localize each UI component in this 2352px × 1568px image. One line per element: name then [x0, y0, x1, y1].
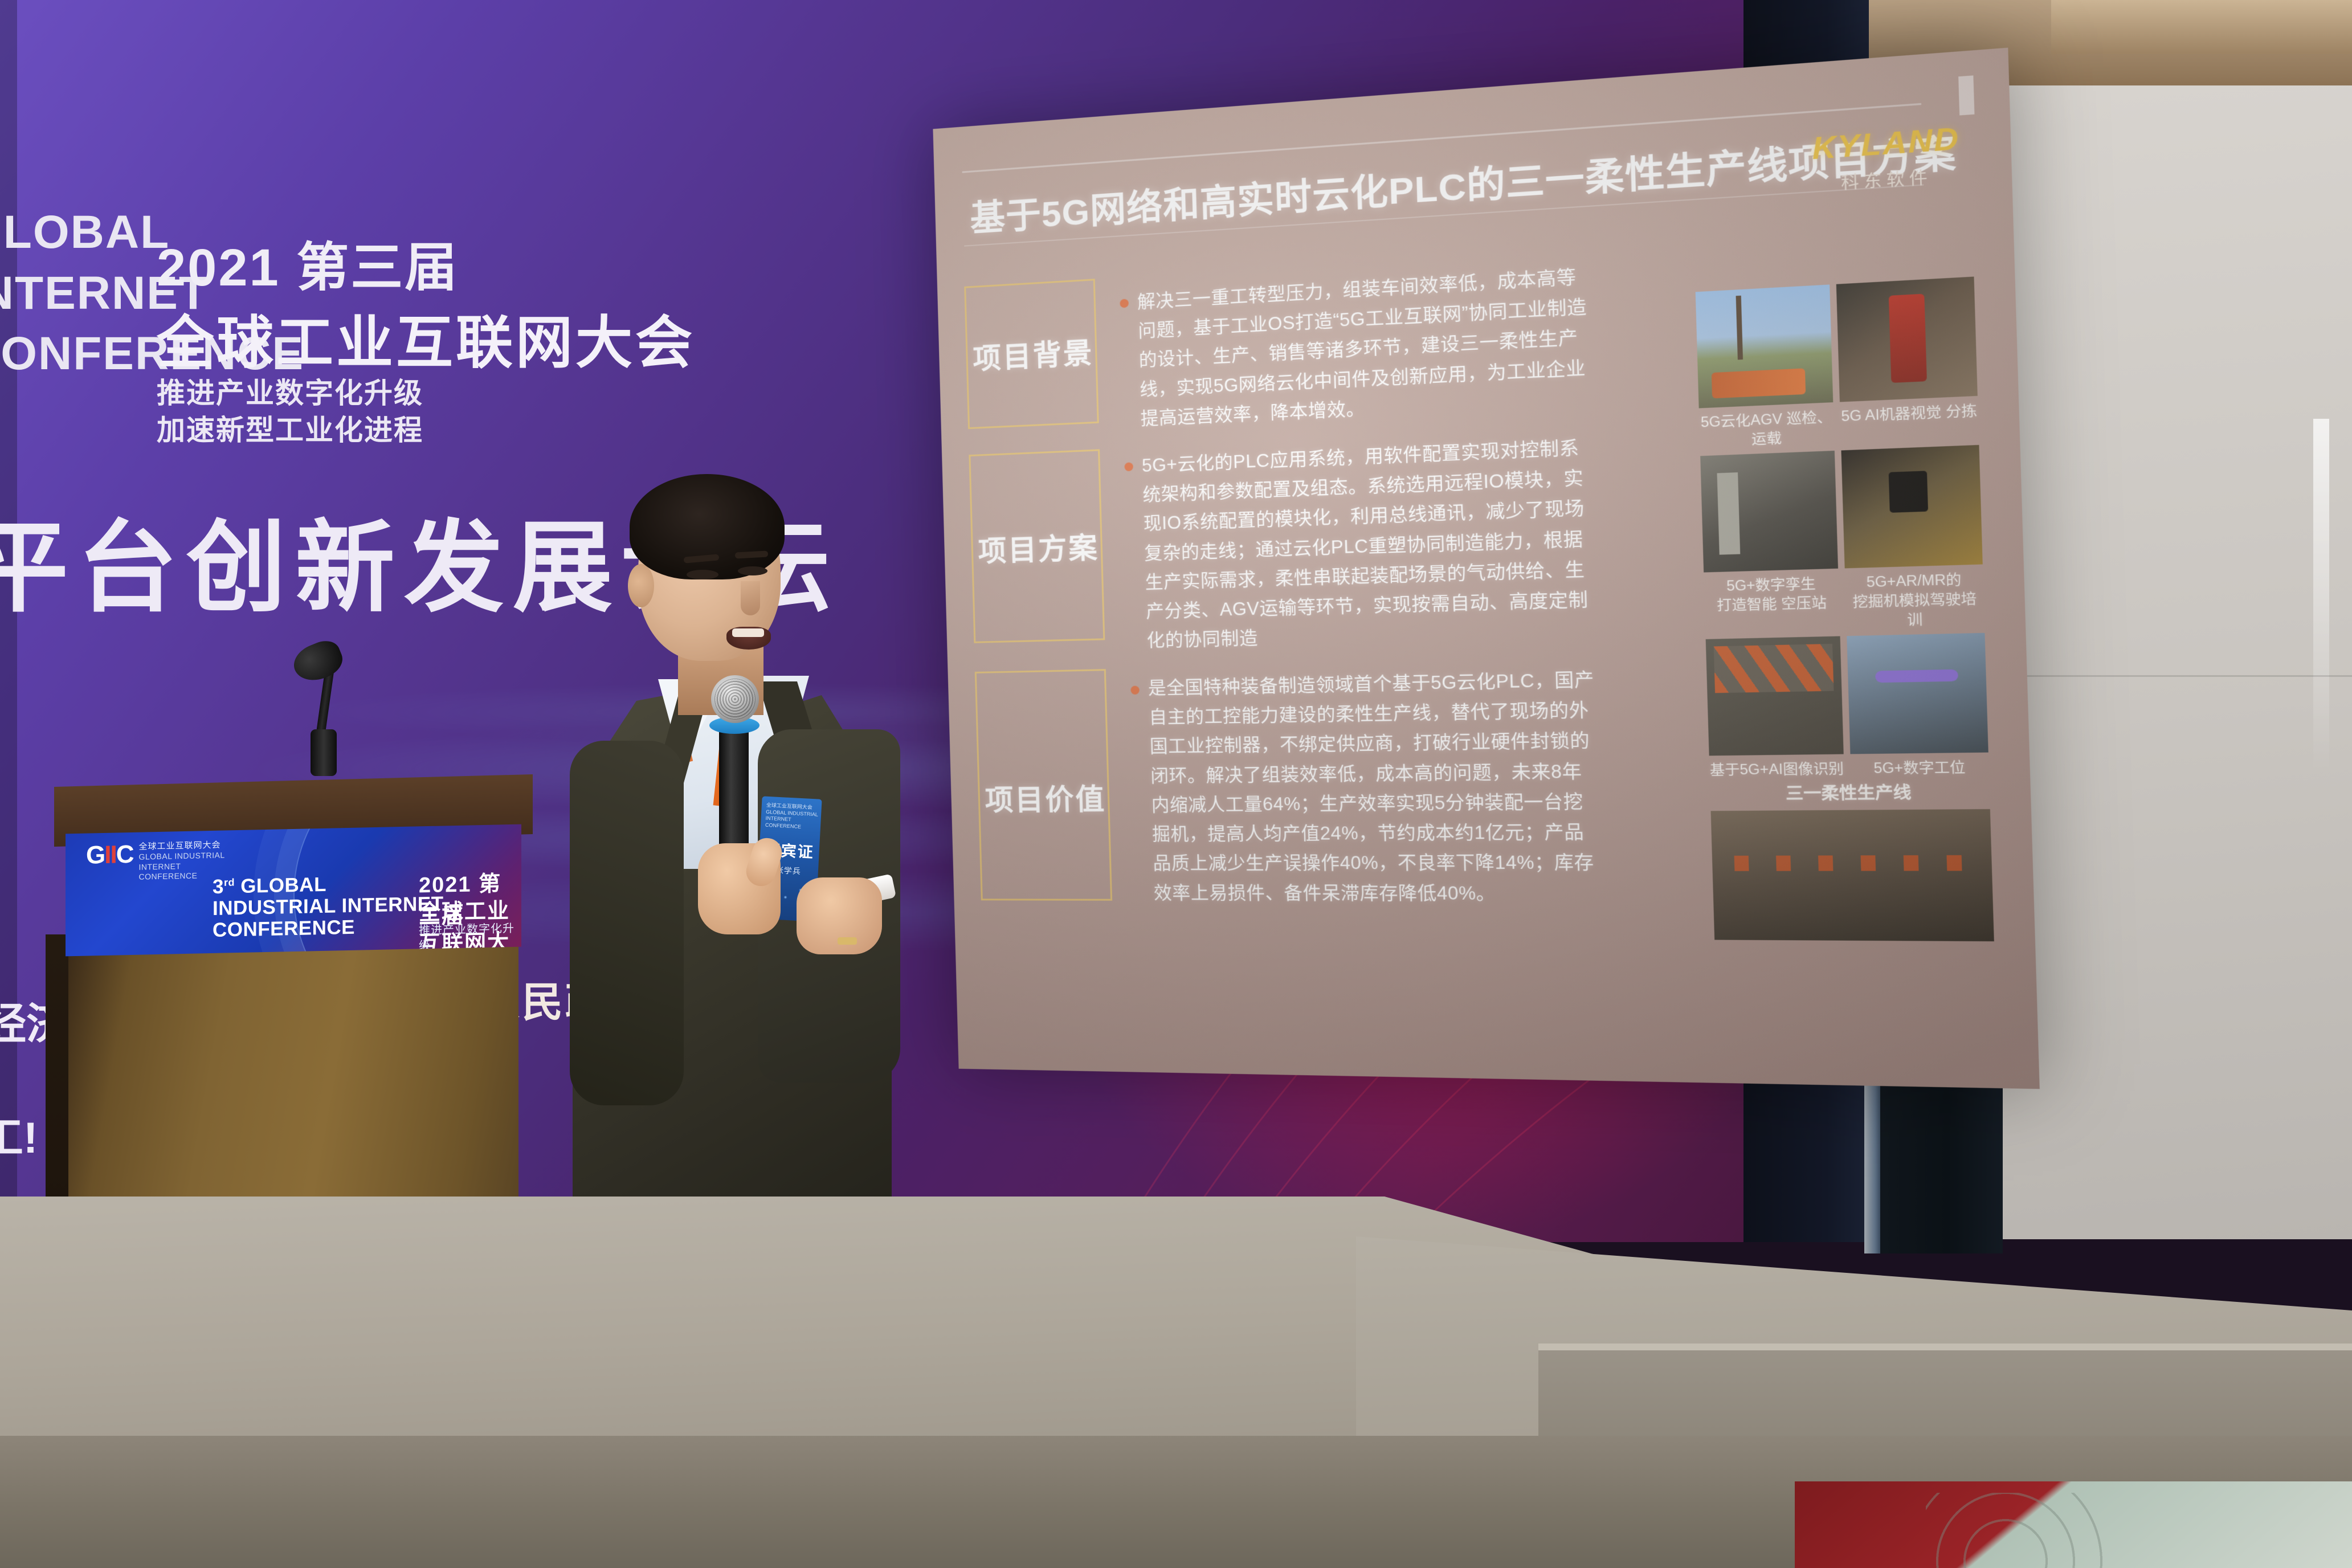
speaker-arm-left: [570, 741, 684, 1105]
thumbnail-image-ar-mr: [1841, 445, 1982, 569]
presentation-slide: 基于5G网络和高实时云化PLC的三一柔性生产线项目方案 KYLAND 科东软件 …: [933, 48, 2039, 1089]
speaker-teeth: [732, 628, 764, 637]
thumbnail-caption-row-3: 基于5G+AI图像识别 5G+数字工位: [1709, 753, 1989, 780]
room-right-wall: [1994, 54, 2352, 1239]
thumbnail-caption-2: 5G+数字孪生 打造智能 空压站: [1704, 569, 1840, 635]
carpet-motif: [1926, 1493, 2352, 1568]
section-label-2: 项目方案: [978, 525, 1100, 570]
podium-english-title: 3rd GLOBAL INDUSTRIAL INTERNET CONFERENC…: [213, 871, 444, 941]
section-label-3: 项目价值: [985, 776, 1106, 819]
backdrop-subtitle-1: 推进产业数字化升级: [157, 370, 423, 411]
thumbnail-caption-5: 5G+数字工位: [1850, 753, 1989, 778]
backdrop-en-line-1: INTERNET: [0, 263, 137, 324]
backdrop-en-line-0: GLOBAL: [0, 202, 137, 263]
thumbnail-caption-3: 5G+AR/MR的 挖掘机模拟驾驶培训: [1845, 565, 1984, 631]
section-label-1: 项目背景: [972, 330, 1094, 378]
microphone-icon: [711, 675, 759, 723]
backdrop-partial-text-2: 工!: [0, 1102, 38, 1165]
speaker-hair: [630, 474, 785, 579]
thumbnail-row-3: [1706, 633, 1988, 756]
thumbnail-image-ai-vision: [1836, 276, 1978, 402]
section-body-3: 是全国特种装备制造领域首个基于5G云化PLC，国产自主的工控能力建设的柔性生产线…: [1148, 665, 1604, 909]
thumbnail-image-production-line: [1711, 809, 1994, 941]
thumbnail-caption-0: 5G云化AGV 巡检、运载: [1699, 402, 1835, 451]
slide-corner-chip: [1958, 75, 1974, 115]
backdrop-main-title: 全球工业互联网大会: [157, 296, 695, 379]
room-ceiling-panel: [2051, 0, 2352, 54]
speaker-eye-left: [687, 570, 718, 579]
conference-stage-photo: GLOBAL INTERNET CONFERENCE 2021 第三届 全球工业…: [0, 0, 2352, 1568]
bullet-dot-3: [1130, 686, 1140, 695]
bullet-dot-1: [1120, 299, 1129, 308]
giic-logo-en: GLOBAL INDUSTRIAL INTERNET CONFERENCE: [138, 851, 224, 883]
thumbnail-caption-1: 5G AI机器视觉 分拣: [1840, 396, 1979, 446]
thumbnail-image-agv: [1696, 284, 1834, 408]
wall-seam: [1994, 675, 2352, 677]
thumbnail-row-1: [1696, 276, 1978, 408]
section-body-2: 5G+云化的PLC应用系统，用软件配置实现对控制系统架构和参数配置及组态。系统选…: [1141, 432, 1596, 656]
giic-logo: GIIC 全球工业互联网大会 GLOBAL INDUSTRIAL INTERNE…: [86, 839, 225, 884]
thumbnail-image-image-recognition: [1706, 636, 1844, 756]
speaker-ear: [628, 564, 654, 607]
kyland-logo: KYLAND 科东软件: [1811, 120, 1961, 195]
podium-branding-panel: GIIC 全球工业互联网大会 GLOBAL INDUSTRIAL INTERNE…: [66, 824, 521, 957]
kyland-logo-cn: 科东软件: [1813, 162, 1961, 195]
speaker-eye-right: [738, 566, 767, 575]
backdrop-english-stack: GLOBAL INTERNET CONFERENCE: [0, 202, 137, 385]
projection-screen: 基于5G网络和高实时云化PLC的三一柔性生产线项目方案 KYLAND 科东软件 …: [933, 48, 2039, 1089]
gooseneck-mic-base: [311, 729, 337, 776]
thumbnail-caption-row-2: 5G+数字孪生 打造智能 空压站 5G+AR/MR的 挖掘机模拟驾驶培训: [1704, 565, 1984, 635]
badge-header-text: 全球工业互联网大会 GLOBAL INDUSTRIAL INTERNET CON…: [765, 802, 822, 832]
backdrop-year-line: 2021 第三届: [157, 225, 459, 301]
backdrop-en-line-2: CONFERENCE: [0, 324, 137, 385]
giic-logo-mark: GIIC: [86, 840, 133, 870]
speaker-nose: [741, 581, 760, 615]
slide-thumbnail-grid: 5G云化AGV 巡检、运载 5G AI机器视觉 分拣 5G+数字孪生 打造智能 …: [1696, 276, 1994, 941]
bullet-dot-2: [1124, 462, 1133, 471]
thumbnail-footer-label: 三一柔性生产线: [1710, 777, 1990, 806]
slide-title: 基于5G网络和高实时云化PLC的三一柔性生产线项目方案: [969, 122, 1957, 242]
section-body-1: 解决三一重工转型压力，组装车间效率低，成本高等问题，基于工业OS打造“5G工业互…: [1137, 262, 1590, 434]
kyland-logo-mark: KYLAND: [1811, 120, 1960, 166]
thumbnail-caption-4: 基于5G+AI图像识别: [1709, 754, 1844, 780]
speaker-wedding-ring: [838, 937, 857, 945]
thumbnail-image-digital-twin: [1700, 451, 1838, 573]
backdrop-subtitle-2: 加速新型工业化进程: [157, 407, 423, 448]
thumbnail-image-digital-workstation: [1847, 633, 1988, 754]
thumbnail-row-2: [1700, 445, 1983, 573]
